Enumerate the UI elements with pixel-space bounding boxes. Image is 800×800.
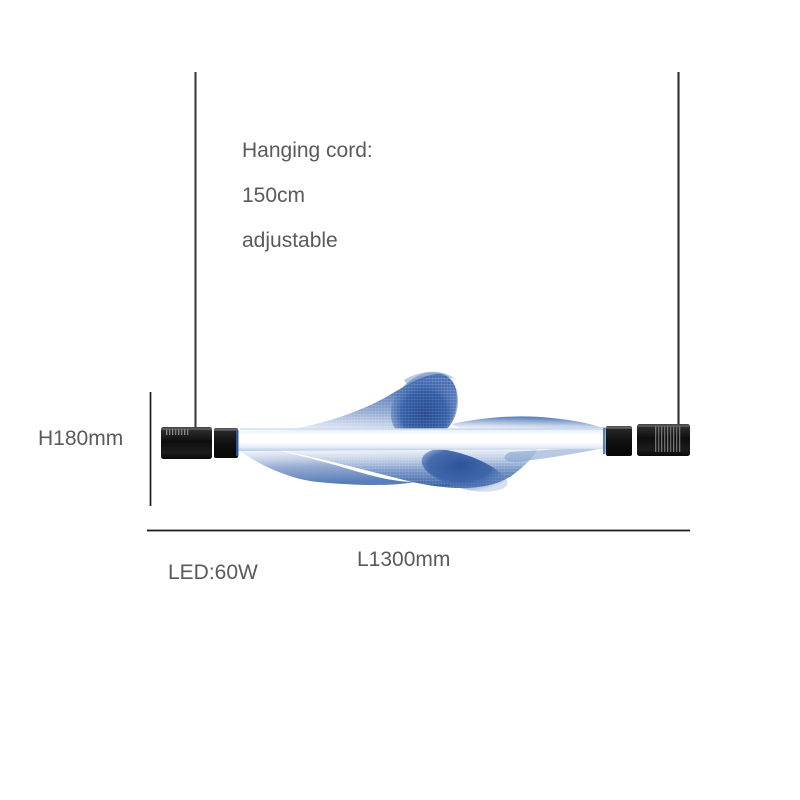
cord-annotation-line-3: adjustable [242, 218, 373, 263]
central-light-tube [232, 427, 612, 451]
end-cap-left [161, 427, 239, 459]
lamp-illustration-svg [0, 0, 800, 800]
end-cap-right [603, 424, 690, 456]
hanging-cord-annotation: Hanging cord: 150cm adjustable [242, 128, 373, 263]
end-cap-left-light-seam [236, 430, 239, 456]
end-cap-right-top-sheen [637, 425, 690, 427]
end-cap-right-collar [606, 426, 632, 456]
cord-annotation-line-1: Hanging cord: [242, 128, 373, 173]
tube-highlight [236, 434, 608, 439]
power-spec-label: LED:60W [168, 561, 258, 585]
tube-body [232, 427, 612, 451]
end-cap-right-light-seam [603, 428, 606, 454]
end-cap-left-top-sheen [161, 428, 212, 430]
end-cap-right-collar-sheen [606, 427, 632, 429]
end-cap-left-outer [161, 427, 212, 459]
height-dimension-label: H180mm [38, 427, 123, 451]
end-cap-right-outer [637, 424, 690, 456]
cord-annotation-line-2: 150cm [242, 173, 373, 218]
end-cap-left-collar-sheen [214, 429, 238, 431]
end-cap-left-collar [214, 428, 238, 458]
product-dimension-diagram: Hanging cord: 150cm adjustable H180mm L1… [0, 0, 800, 800]
length-dimension-label: L1300mm [357, 548, 450, 572]
tube-edge-glow-top [240, 428, 604, 430]
end-cap-right-knurling [655, 426, 680, 452]
